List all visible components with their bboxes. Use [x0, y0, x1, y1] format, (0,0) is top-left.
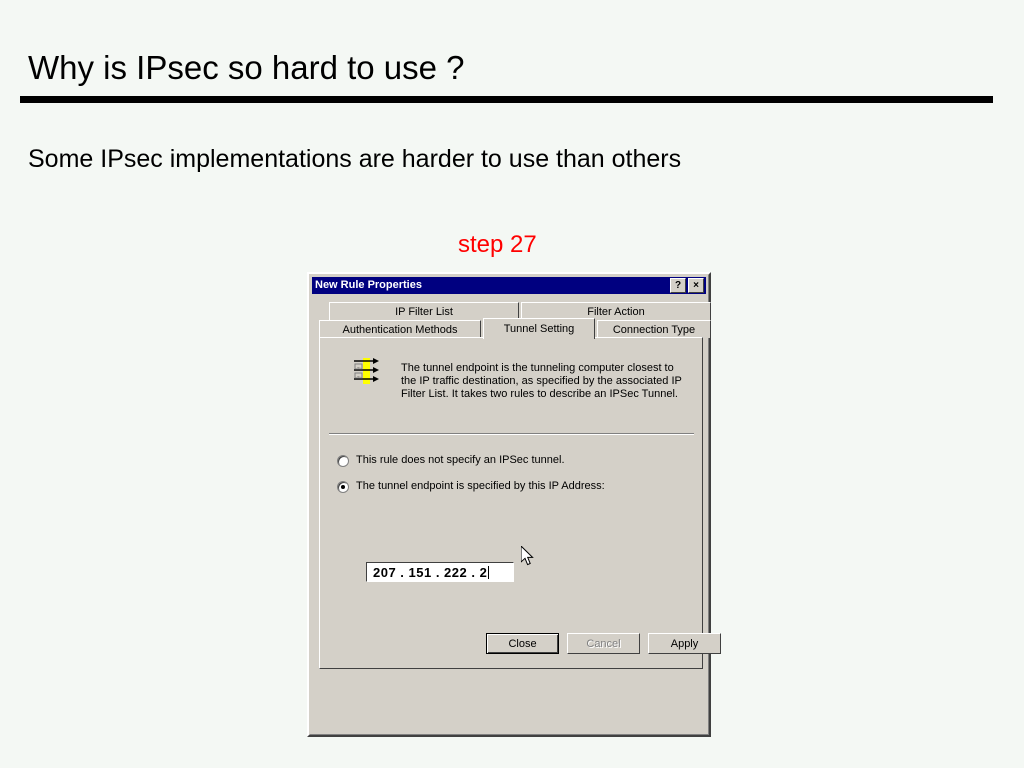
radio-option-tunnel-endpoint[interactable]: The tunnel endpoint is specified by this…	[337, 480, 605, 493]
close-icon[interactable]: ×	[688, 278, 704, 293]
svg-text:←: ←	[357, 374, 362, 380]
tab-page-tunnel-setting: ← ← The tunnel endpoint is the tunneling…	[319, 337, 703, 669]
dialog-button-bar: Close Cancel Apply	[329, 629, 713, 659]
tab-authentication-methods[interactable]: Authentication Methods	[319, 320, 481, 338]
radio-label-tunnel-endpoint: The tunnel endpoint is specified by this…	[356, 480, 605, 493]
slide-subtitle: Some IPsec implementations are harder to…	[28, 145, 681, 174]
text-caret	[488, 566, 489, 579]
title-underline-rule	[20, 96, 993, 103]
radio-label-no-tunnel: This rule does not specify an IPSec tunn…	[356, 454, 565, 467]
tunnel-setting-description: The tunnel endpoint is the tunneling com…	[401, 362, 691, 401]
section-separator	[329, 433, 694, 435]
ip-address-value: 207 . 151 . 222 . 2	[367, 565, 487, 580]
apply-button[interactable]: Apply	[648, 633, 721, 654]
tab-strip: IP Filter List Filter Action Authenticat…	[319, 302, 703, 338]
tab-tunnel-setting[interactable]: Tunnel Setting	[483, 318, 595, 339]
radio-button-no-tunnel[interactable]	[337, 455, 349, 467]
tab-connection-type[interactable]: Connection Type	[597, 320, 711, 338]
help-icon[interactable]: ?	[670, 278, 686, 293]
cancel-button: Cancel	[567, 633, 640, 654]
page-title: Why is IPsec so hard to use ?	[28, 49, 465, 87]
step-label: step 27	[458, 231, 537, 259]
close-button[interactable]: Close	[486, 633, 559, 654]
dialog-title: New Rule Properties	[315, 280, 668, 291]
radio-option-no-tunnel[interactable]: This rule does not specify an IPSec tunn…	[337, 454, 565, 467]
ip-address-input[interactable]: 207 . 151 . 222 . 2	[366, 562, 514, 582]
radio-button-tunnel-endpoint[interactable]	[337, 481, 349, 493]
svg-text:←: ←	[357, 365, 362, 371]
dialog-titlebar[interactable]: New Rule Properties ? ×	[312, 277, 706, 294]
tunnel-endpoint-icon: ← ←	[352, 357, 382, 385]
new-rule-properties-dialog: New Rule Properties ? × IP Filter List F…	[307, 272, 711, 737]
dialog-inner-frame: New Rule Properties ? × IP Filter List F…	[309, 274, 709, 735]
